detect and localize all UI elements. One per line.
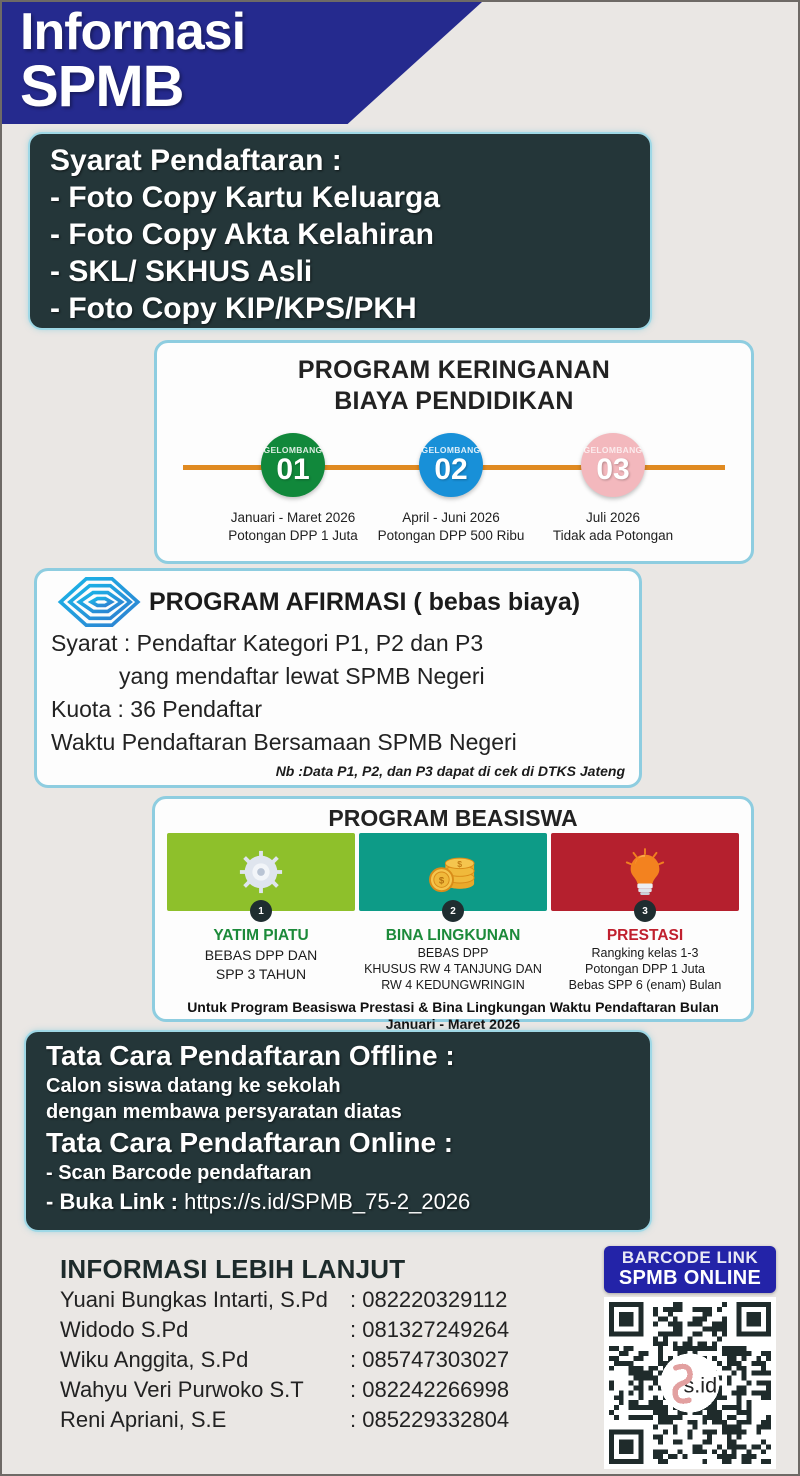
contact-section: INFORMASI LEBIH LANJUT Yuani Bungkas Int… xyxy=(60,1254,590,1435)
contact-row: Reni Apriani, S.E : 085229332804 xyxy=(60,1405,590,1435)
afirmasi-card: PROGRAM AFIRMASI ( bebas biaya) Syarat :… xyxy=(34,568,642,788)
afirmasi-logo-icon xyxy=(57,575,143,629)
contact-name: Widodo S.Pd xyxy=(60,1315,350,1345)
contact-name: Wahyu Veri Purwoko S.T xyxy=(60,1375,350,1405)
keringanan-card: PROGRAM KERINGANAN BIAYA PENDIDIKAN GELO… xyxy=(154,340,754,564)
beasiswa-desc-line: Potongan DPP 1 Juta xyxy=(551,962,739,977)
wave-circle-01: GELOMBANG 01 xyxy=(261,433,325,497)
wave-number: 02 xyxy=(434,455,467,485)
header-line-2: SPMB xyxy=(20,58,482,116)
beasiswa-badge: 3 xyxy=(634,900,656,922)
beasiswa-cards: 1 YATIM PIATU BEBAS DPP DAN SPP 3 TAHUN xyxy=(155,831,751,993)
qr-code[interactable]: s.id xyxy=(604,1297,776,1469)
wave-number: 03 xyxy=(596,455,629,485)
requirement-item: - Foto Copy Akta Kelahiran xyxy=(50,216,650,253)
tata-offline-heading: Tata Cara Pendaftaran Offline : xyxy=(46,1038,650,1073)
beasiswa-item-prestasi: 3 PRESTASI Rangking kelas 1-3 Potongan D… xyxy=(551,833,739,993)
qr-badge: BARCODE LINK SPMB ONLINE xyxy=(604,1246,776,1293)
wave-discount: Tidak ada Potongan xyxy=(513,527,713,545)
beasiswa-item-bina-lingkungan: $ $ 2 BINA LINGKUNAN BEBAS DPP KHUSUS RW… xyxy=(359,833,547,993)
qr-badge-line-2: SPMB ONLINE xyxy=(604,1267,776,1289)
requirement-item: - Foto Copy KIP/KPS/PKH xyxy=(50,290,650,327)
beasiswa-desc-line: BEBAS DPP xyxy=(359,946,547,961)
svg-text:$: $ xyxy=(457,859,462,869)
requirements-box: Syarat Pendaftaran : - Foto Copy Kartu K… xyxy=(28,132,652,330)
beasiswa-name: BINA LINGKUNAN xyxy=(359,927,547,945)
beasiswa-title: PROGRAM BEASISWA xyxy=(155,805,751,831)
beasiswa-image: $ $ 2 xyxy=(359,833,547,911)
beasiswa-desc-line: BEBAS DPP DAN xyxy=(167,946,355,964)
tata-online-line-1: - Scan Barcode pendaftaran xyxy=(46,1160,650,1186)
beasiswa-desc-line: SPP 3 TAHUN xyxy=(167,965,355,983)
beasiswa-image: 1 xyxy=(167,833,355,911)
contact-name: Wiku Anggita, S.Pd xyxy=(60,1345,350,1375)
beasiswa-card: PROGRAM BEASISWA xyxy=(152,796,754,1022)
gear-icon xyxy=(238,849,284,895)
beasiswa-footer: Untuk Program Beasiswa Prestasi & Bina L… xyxy=(155,999,751,1033)
header-line-1: Informasi xyxy=(20,6,482,58)
wave-period: Juli 2026 xyxy=(513,509,713,527)
contact-heading: INFORMASI LEBIH LANJUT xyxy=(60,1254,590,1285)
requirement-item: - Foto Copy Kartu Keluarga xyxy=(50,179,650,216)
contact-name: Reni Apriani, S.E xyxy=(60,1405,350,1435)
afirmasi-line-4: Waktu Pendaftaran Bersamaan SPMB Negeri xyxy=(51,726,625,759)
qr-section: BARCODE LINK SPMB ONLINE s.id xyxy=(604,1246,776,1469)
tata-online-label: - Buka Link : xyxy=(46,1189,184,1214)
lightbulb-icon xyxy=(623,847,667,897)
beasiswa-name: PRESTASI xyxy=(551,927,739,945)
beasiswa-desc-line: Bebas SPP 6 (enam) Bulan xyxy=(551,978,739,993)
wave-circle-03: GELOMBANG 03 xyxy=(581,433,645,497)
tata-cara-box: Tata Cara Pendaftaran Offline : Calon si… xyxy=(24,1030,652,1232)
beasiswa-desc-line: RW 4 KEDUNGWRINGIN xyxy=(359,978,547,993)
beasiswa-badge: 1 xyxy=(250,900,272,922)
beasiswa-item-yatim-piatu: 1 YATIM PIATU BEBAS DPP DAN SPP 3 TAHUN xyxy=(167,833,355,993)
keringanan-title-line-1: PROGRAM KERINGANAN xyxy=(157,355,751,386)
qr-code-icon: s.id xyxy=(609,1302,771,1464)
qr-badge-line-1: BARCODE LINK xyxy=(604,1248,776,1267)
svg-text:$: $ xyxy=(439,876,445,887)
wave-caption-03: Juli 2026 Tidak ada Potongan xyxy=(513,509,713,545)
afirmasi-title: PROGRAM AFIRMASI ( bebas biaya) xyxy=(149,588,580,617)
tata-online-url[interactable]: https://s.id/SPMB_75-2_2026 xyxy=(184,1189,470,1214)
keringanan-title-line-2: BIAYA PENDIDIKAN xyxy=(157,386,751,417)
afirmasi-note: Nb :Data P1, P2, dan P3 dapat di cek di … xyxy=(51,763,625,779)
tata-online-link-row: - Buka Link : https://s.id/SPMB_75-2_202… xyxy=(46,1186,650,1218)
contact-row: Yuani Bungkas Intarti, S.Pd : 0822203291… xyxy=(60,1285,590,1315)
contact-row: Wahyu Veri Purwoko S.T : 082242266998 xyxy=(60,1375,590,1405)
afirmasi-header: PROGRAM AFIRMASI ( bebas biaya) xyxy=(51,577,625,627)
contact-row: Widodo S.Pd : 081327249264 xyxy=(60,1315,590,1345)
tata-online-heading: Tata Cara Pendaftaran Online : xyxy=(46,1125,650,1160)
contact-phone: : 082242266998 xyxy=(350,1375,509,1405)
beasiswa-desc-line: Rangking kelas 1-3 xyxy=(551,946,739,961)
wave-circle-02: GELOMBANG 02 xyxy=(419,433,483,497)
beasiswa-badge: 2 xyxy=(442,900,464,922)
beasiswa-desc-line: KHUSUS RW 4 TANJUNG DAN xyxy=(359,962,547,977)
beasiswa-image: 3 xyxy=(551,833,739,911)
beasiswa-name: YATIM PIATU xyxy=(167,927,355,945)
contact-phone: : 085229332804 xyxy=(350,1405,509,1435)
contact-name: Yuani Bungkas Intarti, S.Pd xyxy=(60,1285,350,1315)
tata-offline-line-1: Calon siswa datang ke sekolah xyxy=(46,1073,650,1099)
afirmasi-line-1: Syarat : Pendaftar Kategori P1, P2 dan P… xyxy=(51,627,625,660)
coins-icon: $ $ xyxy=(425,849,481,895)
poster-header: Informasi SPMB xyxy=(2,2,482,124)
contact-phone: : 082220329112 xyxy=(350,1285,507,1315)
afirmasi-line-3: Kuota : 36 Pendaftar xyxy=(51,693,625,726)
wave-number: 01 xyxy=(276,455,309,485)
keringanan-timeline: GELOMBANG 01 GELOMBANG 02 GELOMBANG 03 J… xyxy=(157,427,751,507)
contact-row: Wiku Anggita, S.Pd : 085747303027 xyxy=(60,1345,590,1375)
requirement-item: - SKL/ SKHUS Asli xyxy=(50,253,650,290)
requirements-heading: Syarat Pendaftaran : xyxy=(50,142,650,179)
keringanan-title: PROGRAM KERINGANAN BIAYA PENDIDIKAN xyxy=(157,355,751,417)
afirmasi-line-2: yang mendaftar lewat SPMB Negeri xyxy=(51,660,625,693)
tata-offline-line-2: dengan membawa persyaratan diatas xyxy=(46,1099,650,1125)
contact-phone: : 081327249264 xyxy=(350,1315,509,1345)
poster-root: Informasi SPMB Syarat Pendaftaran : - Fo… xyxy=(2,2,798,1474)
contact-phone: : 085747303027 xyxy=(350,1345,509,1375)
